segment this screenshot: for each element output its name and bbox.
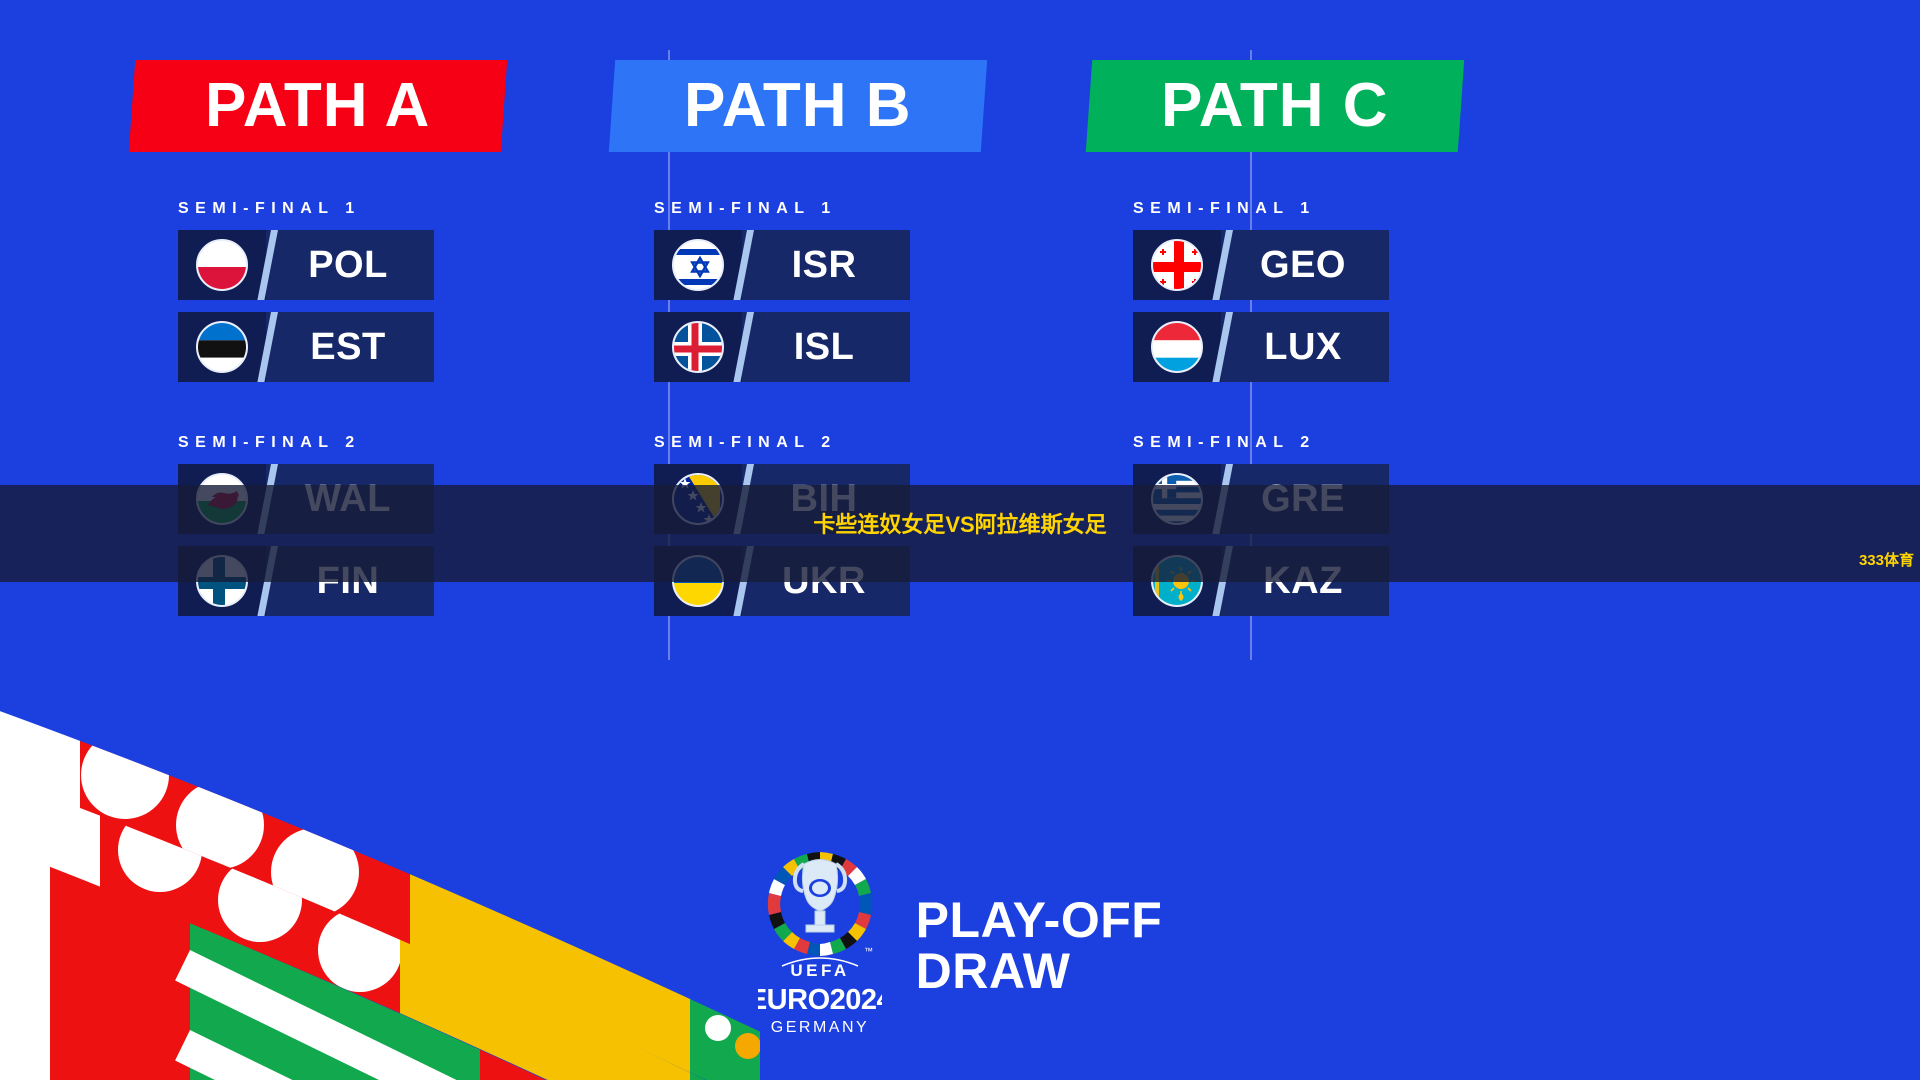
luxembourg-flag	[1151, 321, 1203, 373]
path-a-semifinal-2-label: SEMI-FINAL 2	[178, 434, 580, 452]
overlay-banner: 卡些连奴女足VS阿拉维斯女足 333体育	[0, 485, 1920, 582]
israel-flag	[672, 239, 724, 291]
path-c-semifinal-2-label: SEMI-FINAL 2	[1133, 434, 1535, 452]
trademark-mark: ™	[864, 946, 873, 956]
path-b-title: PATH B	[684, 75, 912, 137]
path-b-semifinal-1-label: SEMI-FINAL 1	[654, 200, 1056, 218]
path-c-title: PATH C	[1161, 75, 1389, 137]
path-b-semifinal-2-label: SEMI-FINAL 2	[654, 434, 1056, 452]
path-a-title: PATH A	[205, 75, 430, 137]
match-row-geo[interactable]: GEO	[1133, 230, 1389, 300]
match-row-lux[interactable]: LUX	[1133, 312, 1389, 382]
path-b-header: PATH B	[609, 60, 987, 152]
poland-flag	[196, 239, 248, 291]
match-row-isr[interactable]: ISR	[654, 230, 910, 300]
path-a-semifinal-1-label: SEMI-FINAL 1	[178, 200, 580, 218]
team-code: ISL	[742, 326, 910, 369]
flag-cell	[1133, 312, 1221, 382]
flag-cell	[178, 312, 266, 382]
watermark-label: 333体育	[1859, 549, 1914, 570]
path-a-header: PATH A	[129, 60, 507, 152]
team-code: GEO	[1221, 244, 1389, 287]
logo-euro-year-text: EURO2024	[758, 984, 882, 1016]
uefa-euro-2024-logo: ™ UEFA EURO2024 GERMANY	[758, 846, 882, 1046]
match-row-isl[interactable]: ISL	[654, 312, 910, 382]
overlay-match-text: 卡些连奴女足VS阿拉维斯女足	[813, 507, 1106, 539]
match-row-est[interactable]: EST	[178, 312, 434, 382]
path-c-semifinal-1-label: SEMI-FINAL 1	[1133, 200, 1535, 218]
team-code: LUX	[1221, 326, 1389, 369]
footer-branding: ™ UEFA EURO2024 GERMANY PLAY-OFF DRAW	[0, 846, 1920, 1046]
logo-germany-text: GERMANY	[770, 1019, 868, 1036]
logo-uefa-text: UEFA	[790, 961, 849, 980]
flag-cell	[654, 312, 742, 382]
playoff-line-2: DRAW	[916, 946, 1163, 998]
team-code: ISR	[742, 244, 910, 287]
georgia-flag	[1151, 239, 1203, 291]
estonia-flag	[196, 321, 248, 373]
playoff-draw-title: PLAY-OFF DRAW	[916, 895, 1163, 998]
flag-cell	[178, 230, 266, 300]
team-code: POL	[266, 244, 434, 287]
team-code: EST	[266, 326, 434, 369]
playoff-line-1: PLAY-OFF	[916, 895, 1163, 947]
path-c-header: PATH C	[1086, 60, 1464, 152]
flag-cell	[654, 230, 742, 300]
playoff-draw-graphic: PATH A SEMI-FINAL 1 POL EST SEMI-FINAL 2	[0, 0, 1920, 1080]
match-row-pol[interactable]: POL	[178, 230, 434, 300]
iceland-flag	[672, 321, 724, 373]
flag-cell	[1133, 230, 1221, 300]
